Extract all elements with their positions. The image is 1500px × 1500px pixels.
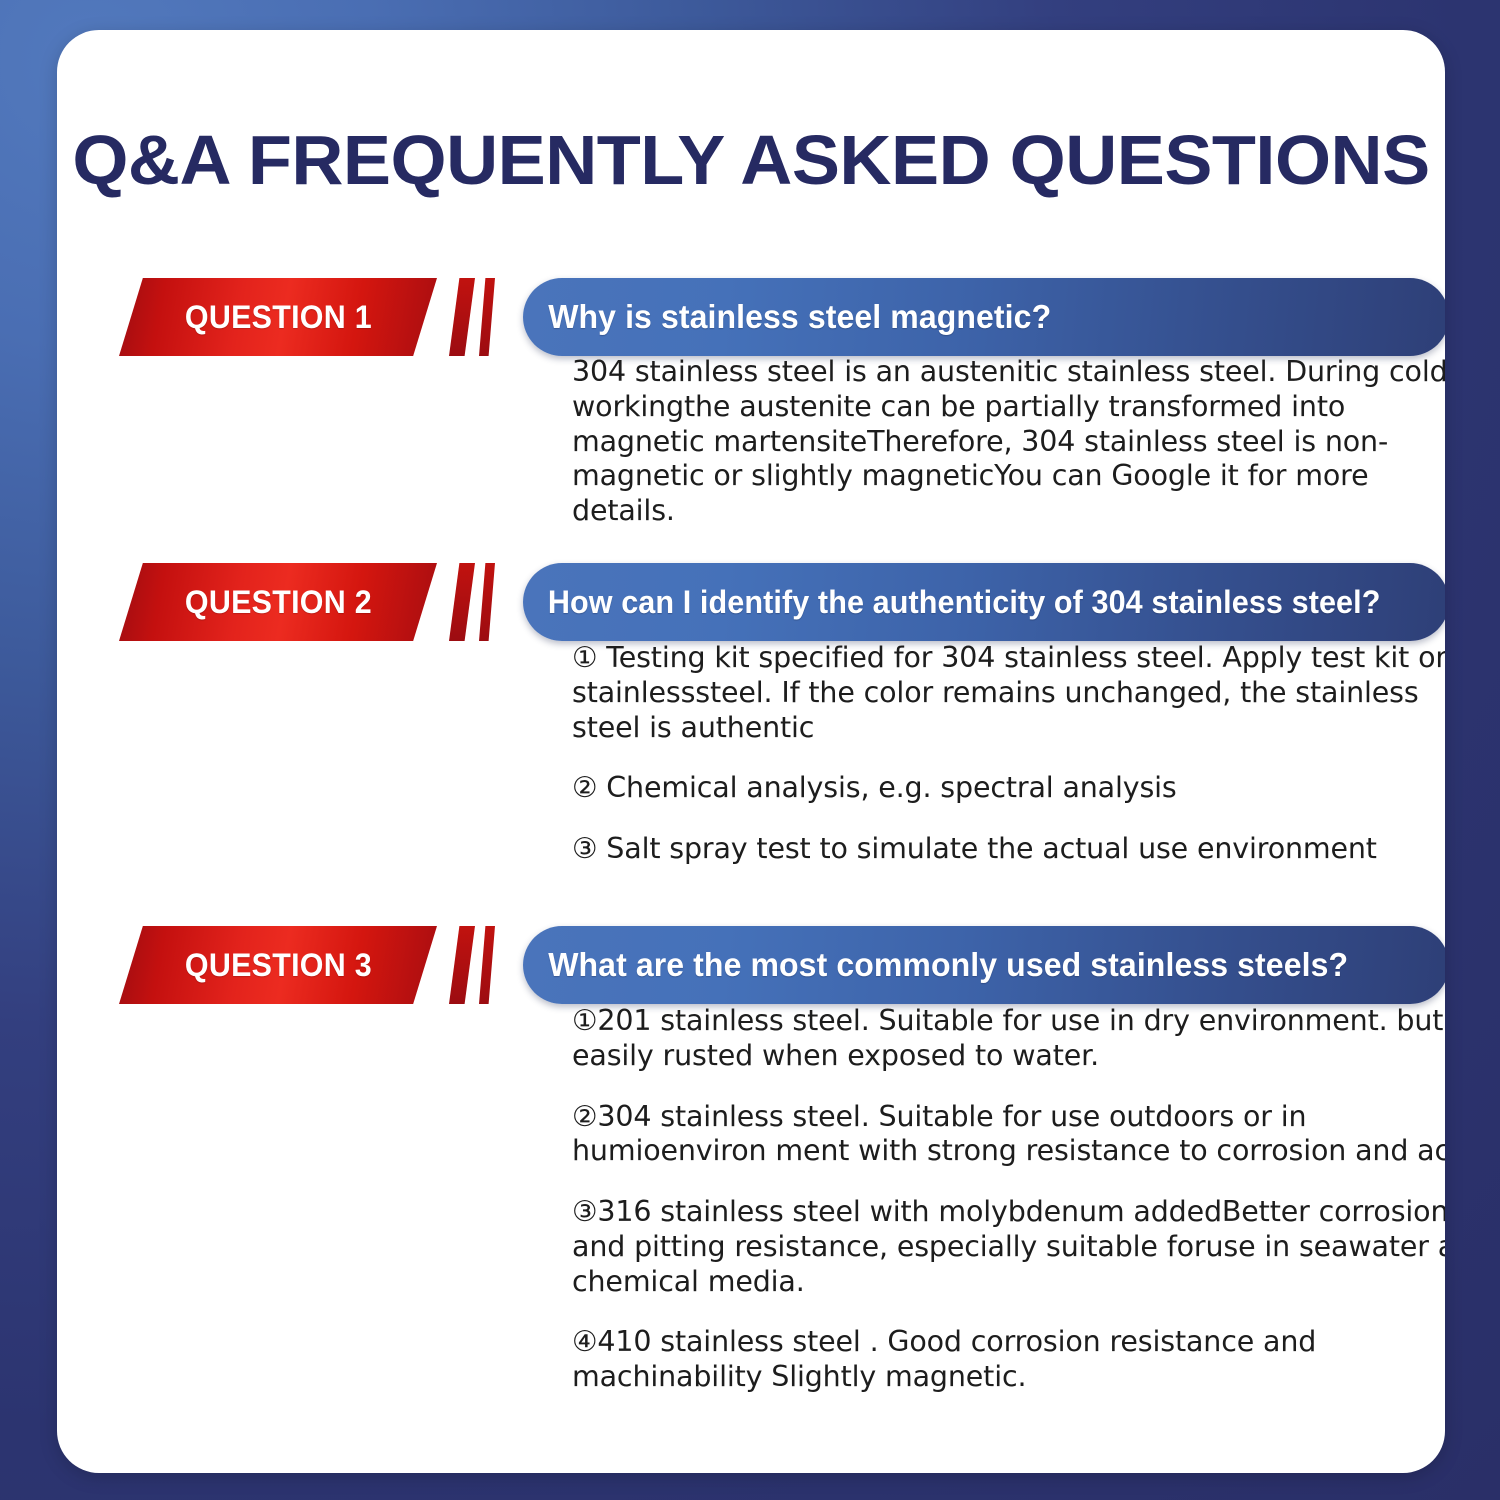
faq-header-row-3: QUESTION 3 What are the most commonly us… (119, 926, 1445, 1004)
answer-block-3: ①201 stainless steel. Suitable for use i… (572, 1004, 1445, 1395)
slash-divider-icon (449, 278, 475, 356)
answer-paragraph: 304 stainless steel is an austenitic sta… (572, 355, 1445, 529)
question-pill-2[interactable]: How can I identify the authenticity of 3… (523, 563, 1445, 641)
faq-header-row-2: QUESTION 2 How can I identify the authen… (119, 563, 1445, 641)
answer-paragraph: ② Chemical analysis, e.g. spectral analy… (572, 771, 1445, 806)
question-pill-3[interactable]: What are the most commonly used stainles… (523, 926, 1445, 1004)
question-text-3: What are the most commonly used stainles… (523, 946, 1348, 984)
question-badge-label-3: QUESTION 3 (185, 947, 372, 984)
answer-paragraph: ③ Salt spray test to simulate the actual… (572, 832, 1445, 867)
slash-divider-icon (449, 926, 475, 1004)
slash-divider-icon (479, 926, 495, 1004)
page-title: Q&A FREQUENTLY ASKED QUESTIONS (57, 125, 1445, 195)
question-badge-1: QUESTION 1 (119, 278, 437, 356)
question-badge-label-1: QUESTION 1 (185, 299, 372, 336)
question-badge-3: QUESTION 3 (119, 926, 437, 1004)
faq-card: Q&A FREQUENTLY ASKED QUESTIONS QUESTION … (57, 30, 1445, 1473)
question-text-2: How can I identify the authenticity of 3… (523, 584, 1381, 621)
answer-paragraph: ① Testing kit specified for 304 stainles… (572, 641, 1445, 745)
slash-divider-icon (449, 563, 475, 641)
faq-header-row-1: QUESTION 1 Why is stainless steel magnet… (119, 278, 1445, 356)
slash-divider-icon (479, 563, 495, 641)
question-badge-label-2: QUESTION 2 (185, 584, 372, 621)
answer-paragraph: ①201 stainless steel. Suitable for use i… (572, 1004, 1445, 1074)
answer-paragraph: ②304 stainless steel. Suitable for use o… (572, 1100, 1445, 1170)
question-badge-2: QUESTION 2 (119, 563, 437, 641)
answer-paragraph: ③316 stainless steel with molybdenum add… (572, 1195, 1445, 1299)
answer-block-1: 304 stainless steel is an austenitic sta… (572, 355, 1445, 529)
slash-divider-icon (479, 278, 495, 356)
question-text-1: Why is stainless steel magnetic? (523, 298, 1051, 336)
question-pill-1[interactable]: Why is stainless steel magnetic? (523, 278, 1445, 356)
answer-block-2: ① Testing kit specified for 304 stainles… (572, 641, 1445, 867)
answer-paragraph: ④410 stainless steel . Good corrosion re… (572, 1325, 1445, 1395)
